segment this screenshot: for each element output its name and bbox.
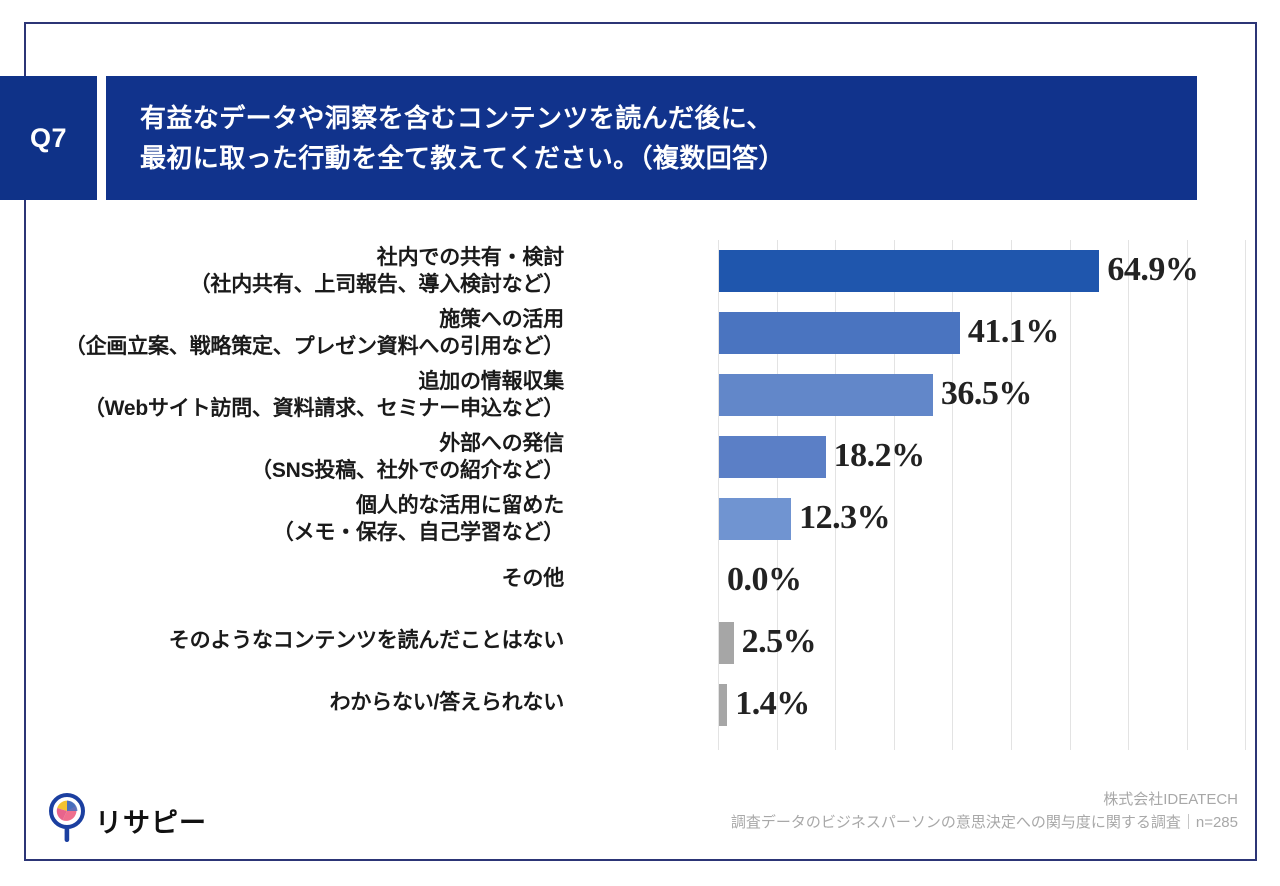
bar-category-label: 外部への発信（SNS投稿、社外での紹介など） — [0, 430, 564, 484]
bar-category-label-line2: （SNS投稿、社外での紹介など） — [0, 457, 564, 484]
bar-value-label: 36.5% — [941, 375, 1032, 413]
bar-category-label-line1: 個人的な活用に留めた — [0, 492, 564, 519]
footer-credits: 株式会社IDEATECH 調査データのビジネスパーソンの意思決定への関与度に関す… — [731, 788, 1238, 834]
question-number-label: Q7 — [30, 123, 67, 154]
bar — [719, 374, 933, 416]
bar-category-label-line2: （メモ・保存、自己学習など） — [0, 519, 564, 546]
bar-category-label: 追加の情報収集（Webサイト訪問、資料請求、セミナー申込など） — [0, 368, 564, 422]
bar-category-label-line1: 社内での共有・検討 — [0, 244, 564, 271]
slide-root: Q7 有益なデータや洞察を含むコンテンツを読んだ後に、 最初に取った行動を全て教… — [0, 0, 1280, 886]
bar-category-label: 社内での共有・検討（社内共有、上司報告、導入検討など） — [0, 244, 564, 298]
bar-value-label: 41.1% — [968, 313, 1059, 351]
bar-category-label-line1: 外部への発信 — [0, 430, 564, 457]
bar — [719, 684, 727, 726]
bar — [719, 622, 734, 664]
brand-name: リサピー — [95, 801, 207, 840]
bar-value-label: 1.4% — [735, 685, 810, 723]
bar-category-label-line1: その他 — [0, 565, 564, 592]
bar-category-label: 施策への活用（企画立案、戦略策定、プレゼン資料への引用など） — [0, 306, 564, 360]
bar-category-label: わからない/答えられない — [0, 689, 564, 716]
company-name: 株式会社IDEATECH — [731, 788, 1238, 811]
survey-note: 調査データのビジネスパーソンの意思決定への関与度に関する調査｜n=285 — [731, 811, 1238, 834]
question-title-box: 有益なデータや洞察を含むコンテンツを読んだ後に、 最初に取った行動を全て教えてく… — [106, 76, 1197, 200]
bar — [719, 498, 791, 540]
brand-logo: リサピー — [48, 792, 207, 849]
bar-category-label-line1: 追加の情報収集 — [0, 368, 564, 395]
gridline — [1187, 240, 1188, 750]
bar-category-label-line1: そのようなコンテンツを読んだことはない — [0, 627, 564, 654]
question-number-badge: Q7 — [0, 76, 97, 200]
bar-value-label: 2.5% — [742, 623, 817, 661]
bar-value-label: 18.2% — [834, 437, 925, 475]
gridline — [1245, 240, 1246, 750]
bar-category-label: その他 — [0, 565, 564, 592]
bar-category-label-line2: （企画立案、戦略策定、プレゼン資料への引用など） — [0, 333, 564, 360]
bar-category-label-line1: わからない/答えられない — [0, 689, 564, 716]
gridline — [1070, 240, 1071, 750]
bar-value-label: 0.0% — [727, 561, 802, 599]
magnifier-pie-chart-icon — [48, 792, 86, 849]
bar-value-label: 64.9% — [1107, 251, 1198, 289]
bar-chart: 社内での共有・検討（社内共有、上司報告、導入検討など）64.9%施策への活用（企… — [48, 232, 1238, 772]
question-title-line-1: 有益なデータや洞察を含むコンテンツを読んだ後に、 — [140, 98, 1197, 138]
bar-category-label-line2: （社内共有、上司報告、導入検討など） — [0, 271, 564, 298]
bar — [719, 436, 826, 478]
bar-value-label: 12.3% — [799, 499, 890, 537]
bar — [719, 312, 960, 354]
bar — [719, 250, 1099, 292]
bar-category-label-line2: （Webサイト訪問、資料請求、セミナー申込など） — [0, 395, 564, 422]
question-title-line-2: 最初に取った行動を全て教えてください。（複数回答） — [140, 138, 1197, 178]
bar-category-label: 個人的な活用に留めた（メモ・保存、自己学習など） — [0, 492, 564, 546]
bar-category-label-line1: 施策への活用 — [0, 306, 564, 333]
bar-category-label: そのようなコンテンツを読んだことはない — [0, 627, 564, 654]
gridline — [1128, 240, 1129, 750]
